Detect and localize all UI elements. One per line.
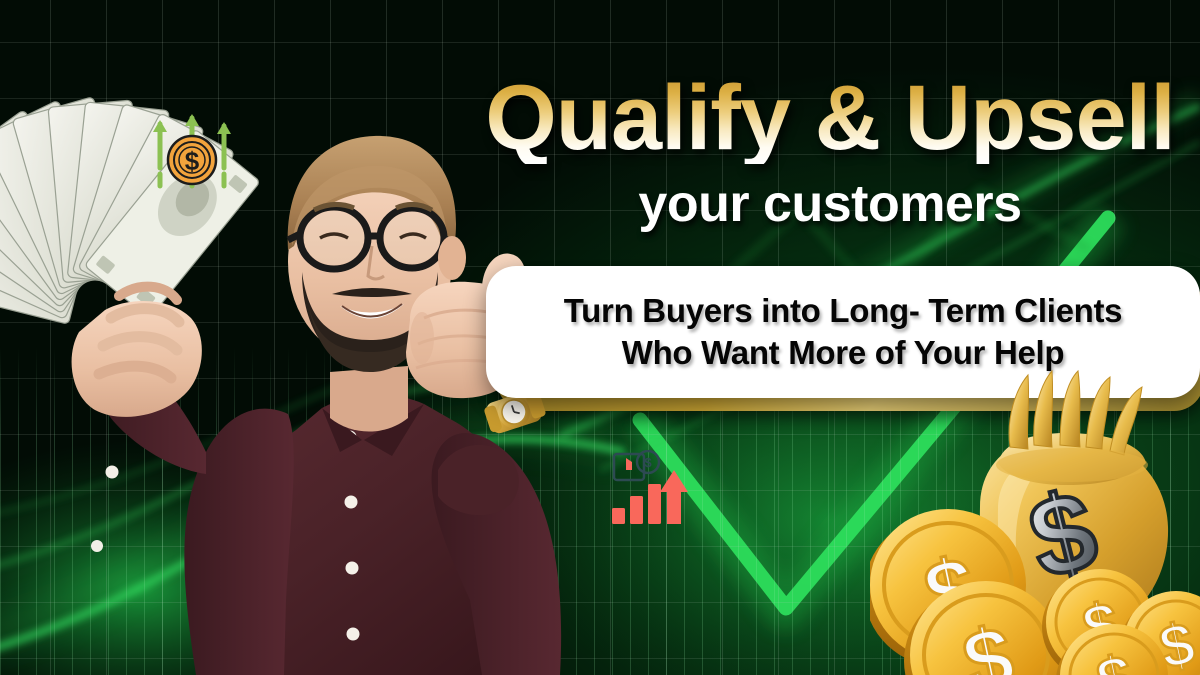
promotional-banner: $ $ Qualify & Upsell your customers Turn…: [0, 0, 1200, 675]
money-bag-and-coins: $ $ $ $ $ $: [870, 359, 1200, 675]
coin-with-rising-arrows-icon: $: [146, 102, 238, 194]
bar-chart-growth-icon: $: [608, 450, 690, 528]
svg-text:$: $: [644, 455, 652, 470]
card-line-1: Turn Buyers into Long- Term Clients: [564, 292, 1122, 330]
svg-text:$: $: [185, 146, 200, 176]
